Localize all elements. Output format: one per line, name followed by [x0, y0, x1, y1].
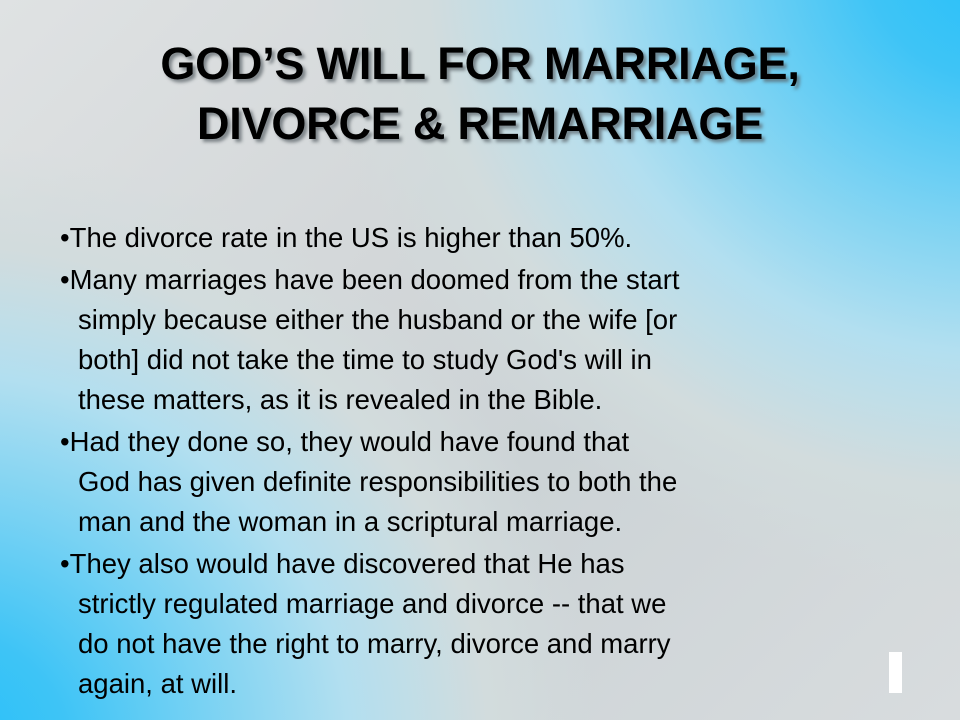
text-cursor-artifact: [889, 652, 902, 693]
title-line-1: GOD’S WILL FOR MARRIAGE,: [0, 34, 960, 94]
bullet-item: •Had they done so, they would have found…: [60, 422, 890, 542]
presentation-slide: GOD’S WILL FOR MARRIAGE, DIVORCE & REMAR…: [0, 0, 960, 720]
bullet-item: •Many marriages have been doomed from th…: [60, 260, 930, 420]
slide-title: GOD’S WILL FOR MARRIAGE, DIVORCE & REMAR…: [0, 34, 960, 154]
bullet-item: •They also would have discovered that He…: [60, 544, 898, 704]
bullet-item: •The divorce rate in the US is higher th…: [60, 218, 818, 258]
bullet-marker-icon: •: [60, 426, 70, 457]
slide-body: •The divorce rate in the US is higher th…: [60, 218, 920, 706]
bullet-text: Had they done so, they would have found …: [70, 426, 678, 537]
bullet-marker-icon: •: [60, 548, 70, 579]
bullet-text: They also would have discovered that He …: [70, 548, 671, 699]
bullet-marker-icon: •: [60, 222, 70, 253]
bullet-marker-icon: •: [60, 264, 70, 295]
title-line-2: DIVORCE & REMARRIAGE: [0, 94, 960, 154]
bullet-text: Many marriages have been doomed from the…: [70, 264, 680, 415]
bullet-text: The divorce rate in the US is higher tha…: [70, 222, 633, 253]
